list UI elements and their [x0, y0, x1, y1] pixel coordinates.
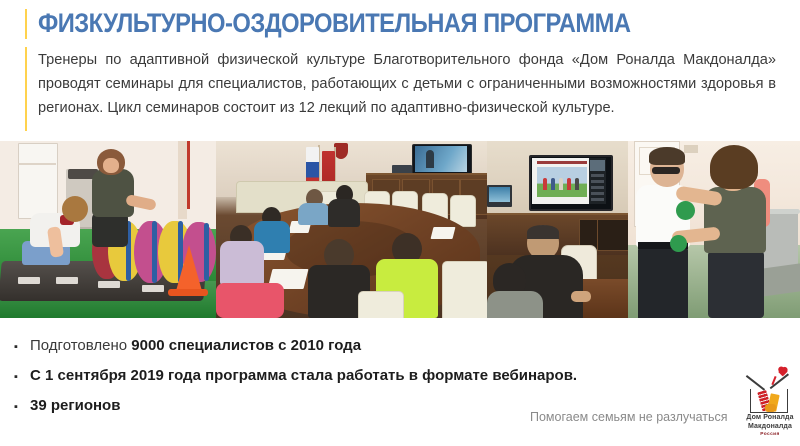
slide-title: ФИЗКУЛЬТУРНО-ОЗДОРОВИТЕЛЬНАЯ ПРОГРАММА [38, 6, 698, 40]
logo-country: Россия [742, 432, 798, 437]
slide-figure [551, 178, 555, 190]
laptop-screen [489, 187, 510, 202]
sunglasses-icon [652, 167, 680, 174]
gym-pillar [178, 141, 187, 219]
participant-body [298, 203, 330, 225]
video-call-thumbnail [590, 160, 605, 171]
bullet-square-icon: ▪ [14, 362, 30, 392]
house-roof-right [770, 374, 789, 389]
rmhc-logo: Дом Роналда Макдоналда Россия [742, 367, 798, 441]
participant-body [220, 241, 264, 285]
notepad [431, 227, 456, 239]
panel-row [591, 192, 604, 195]
participant-body [216, 283, 284, 318]
trainer-torso [92, 169, 134, 217]
viewer-hand [571, 291, 591, 302]
logo-text: Дом Роналда Макдоналда Россия [742, 414, 798, 437]
panel-row [591, 174, 604, 177]
panel-row [591, 198, 604, 201]
webinar-photo [487, 141, 628, 318]
gym-tunnel-photo [0, 141, 216, 318]
dumbbells-photo [628, 141, 800, 318]
mat-label [18, 277, 40, 284]
tunnel-hoop [152, 221, 157, 283]
gym-door-rail [18, 163, 56, 165]
gym-door [18, 143, 58, 219]
tunnel-hoop [204, 223, 209, 281]
logo-mark [742, 367, 798, 413]
client-legs [638, 245, 688, 318]
bullet-square-icon: ▪ [14, 332, 30, 362]
state-emblem [334, 143, 348, 159]
trainer-legs [708, 251, 764, 318]
mat-label [98, 281, 120, 288]
slide-figure [567, 178, 571, 190]
green-dumbbell [670, 235, 687, 252]
bullet-text: С 1 сентября 2019 года программа стала р… [30, 361, 577, 391]
slide-figure [575, 178, 579, 190]
wall-screen-display [415, 146, 467, 172]
house-icon [748, 375, 788, 412]
panel-row [591, 180, 604, 183]
intro-paragraph: Тренеры по адаптивной физической культур… [38, 48, 776, 120]
logo-line-2: Макдоналда [742, 423, 798, 432]
child-head [62, 196, 88, 222]
trainer-legs [92, 213, 128, 247]
photo-strip [0, 141, 800, 318]
bullet-bold: 9000 специалистов с 2010 года [131, 337, 361, 354]
second-viewer-torso [487, 291, 543, 318]
list-item: ▪ С 1 сентября 2019 года программа стала… [14, 361, 514, 391]
list-item: ▪ Подготовлено 9000 специалистов с 2010 … [14, 331, 514, 361]
mat-label [142, 285, 164, 292]
viewer-hair [527, 225, 559, 239]
logo-line-1: Дом Роналда [742, 414, 798, 423]
gym-red-stripe [187, 141, 190, 209]
green-dumbbell [676, 201, 695, 220]
traffic-cone [176, 245, 202, 291]
tagline: Помогаем семьям не разлучаться [530, 410, 728, 424]
trainer-face [103, 158, 119, 173]
bullet-bold: С 1 сентября 2019 года программа стала р… [30, 367, 577, 384]
list-item: ▪ 39 регионов [14, 391, 514, 421]
meeting-chair [442, 261, 487, 318]
intro-accent-bar [25, 47, 27, 131]
conference-photo [216, 141, 487, 318]
ribbon-knot [765, 404, 776, 412]
mat-label [56, 277, 78, 284]
trainer-hair [710, 145, 758, 189]
bullet-square-icon: ▪ [14, 392, 30, 422]
bullet-text: 39 регионов [30, 391, 120, 421]
bullet-text: Подготовлено 9000 специалистов с 2010 го… [30, 331, 361, 361]
bullet-list: ▪ Подготовлено 9000 специалистов с 2010 … [14, 331, 514, 421]
bullet-bold: 39 регионов [30, 397, 120, 414]
client-hair [649, 147, 685, 165]
bullet-lead: Подготовлено [30, 337, 131, 354]
title-accent-bar [25, 9, 27, 39]
slide-heading-line [537, 161, 587, 164]
cabinet-door [597, 219, 628, 251]
participant-body [328, 199, 360, 227]
panel-row [591, 186, 604, 189]
title-block: ФИЗКУЛЬТУРНО-ОЗДОРОВИТЕЛЬНАЯ ПРОГРАММА [0, 0, 800, 44]
screen-presenter [426, 150, 434, 168]
slide-figure [559, 178, 563, 190]
meeting-chair [358, 291, 404, 318]
slide-figure [543, 178, 547, 190]
wall-sign [684, 145, 698, 153]
traffic-cone-base [168, 289, 208, 296]
